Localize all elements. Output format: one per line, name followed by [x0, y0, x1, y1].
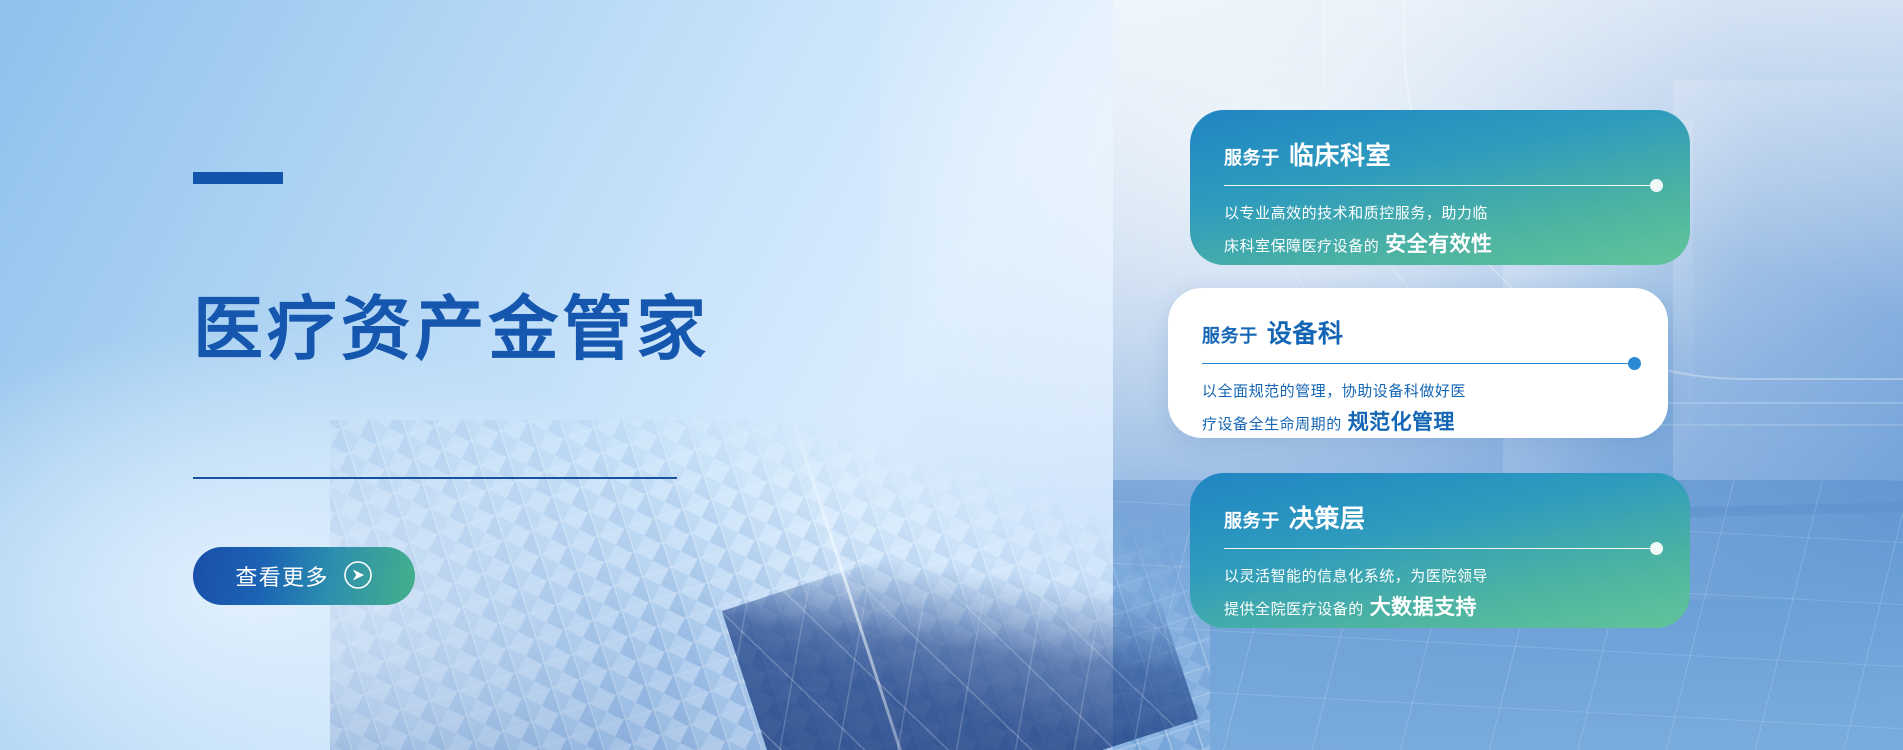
- horizontal-divider: [193, 477, 677, 479]
- card-description-line-2-normal: 提供全院医疗设备的: [1224, 601, 1364, 618]
- card-description: 以全面规范的管理，协助设备科做好医 疗设备全生命周期的规范化管理: [1202, 379, 1634, 442]
- service-card-clinical[interactable]: 服务于 临床科室 以专业高效的技术和质控服务，助力临 床科室保障医疗设备的安全有…: [1190, 110, 1690, 265]
- card-description: 以灵活智能的信息化系统，为医院领导 提供全院医疗设备的大数据支持: [1224, 564, 1656, 627]
- arrow-right-circle-icon: [343, 560, 373, 593]
- card-description-line-2-normal: 疗设备全生命周期的: [1202, 416, 1342, 433]
- card-description: 以专业高效的技术和质控服务，助力临 床科室保障医疗设备的安全有效性: [1224, 201, 1656, 264]
- card-title-prefix: 服务于: [1224, 507, 1280, 533]
- card-description-highlight: 大数据支持: [1370, 596, 1477, 619]
- service-card-equipment-dept[interactable]: 服务于 设备科 以全面规范的管理，协助设备科做好医 疗设备全生命周期的规范化管理: [1168, 288, 1668, 438]
- view-more-label: 查看更多: [235, 560, 328, 592]
- card-rule-dot: [1650, 542, 1663, 555]
- hero-banner: 医疗资产金管家 查看更多 服务于 临床科室 以专业高效的技术和质控服务，助力临 …: [0, 0, 1903, 750]
- card-title: 服务于 临床科室: [1224, 136, 1656, 172]
- card-description-line-2: 提供全院医疗设备的大数据支持: [1224, 590, 1656, 627]
- card-description-line-1: 以灵活智能的信息化系统，为医院领导: [1224, 564, 1656, 590]
- card-description-line-2: 床科室保障医疗设备的安全有效性: [1224, 227, 1656, 264]
- card-title-subject: 决策层: [1289, 499, 1366, 535]
- accent-bar: [193, 172, 283, 184]
- card-description-highlight: 安全有效性: [1385, 233, 1492, 256]
- card-description-line-2-normal: 床科室保障医疗设备的: [1224, 238, 1379, 255]
- card-title-subject: 设备科: [1267, 314, 1344, 350]
- card-title-prefix: 服务于: [1202, 322, 1258, 348]
- view-more-button[interactable]: 查看更多: [193, 547, 415, 605]
- card-title: 服务于 决策层: [1224, 499, 1656, 535]
- card-title: 服务于 设备科: [1202, 314, 1634, 350]
- card-title-subject: 临床科室: [1289, 136, 1391, 172]
- card-description-line-2: 疗设备全生命周期的规范化管理: [1202, 405, 1634, 442]
- service-card-decision-makers[interactable]: 服务于 决策层 以灵活智能的信息化系统，为医院领导 提供全院医疗设备的大数据支持: [1190, 473, 1690, 628]
- card-rule: [1224, 548, 1656, 549]
- card-description-highlight: 规范化管理: [1348, 411, 1455, 434]
- card-description-line-1: 以专业高效的技术和质控服务，助力临: [1224, 201, 1656, 227]
- hero-text-column: 医疗资产金管家 查看更多: [193, 0, 793, 750]
- card-title-prefix: 服务于: [1224, 144, 1280, 170]
- card-rule: [1224, 185, 1656, 186]
- card-description-line-1: 以全面规范的管理，协助设备科做好医: [1202, 379, 1634, 405]
- card-rule: [1202, 363, 1634, 364]
- card-rule-dot: [1650, 179, 1663, 192]
- card-rule-dot: [1628, 357, 1641, 370]
- page-title: 医疗资产金管家: [193, 294, 710, 364]
